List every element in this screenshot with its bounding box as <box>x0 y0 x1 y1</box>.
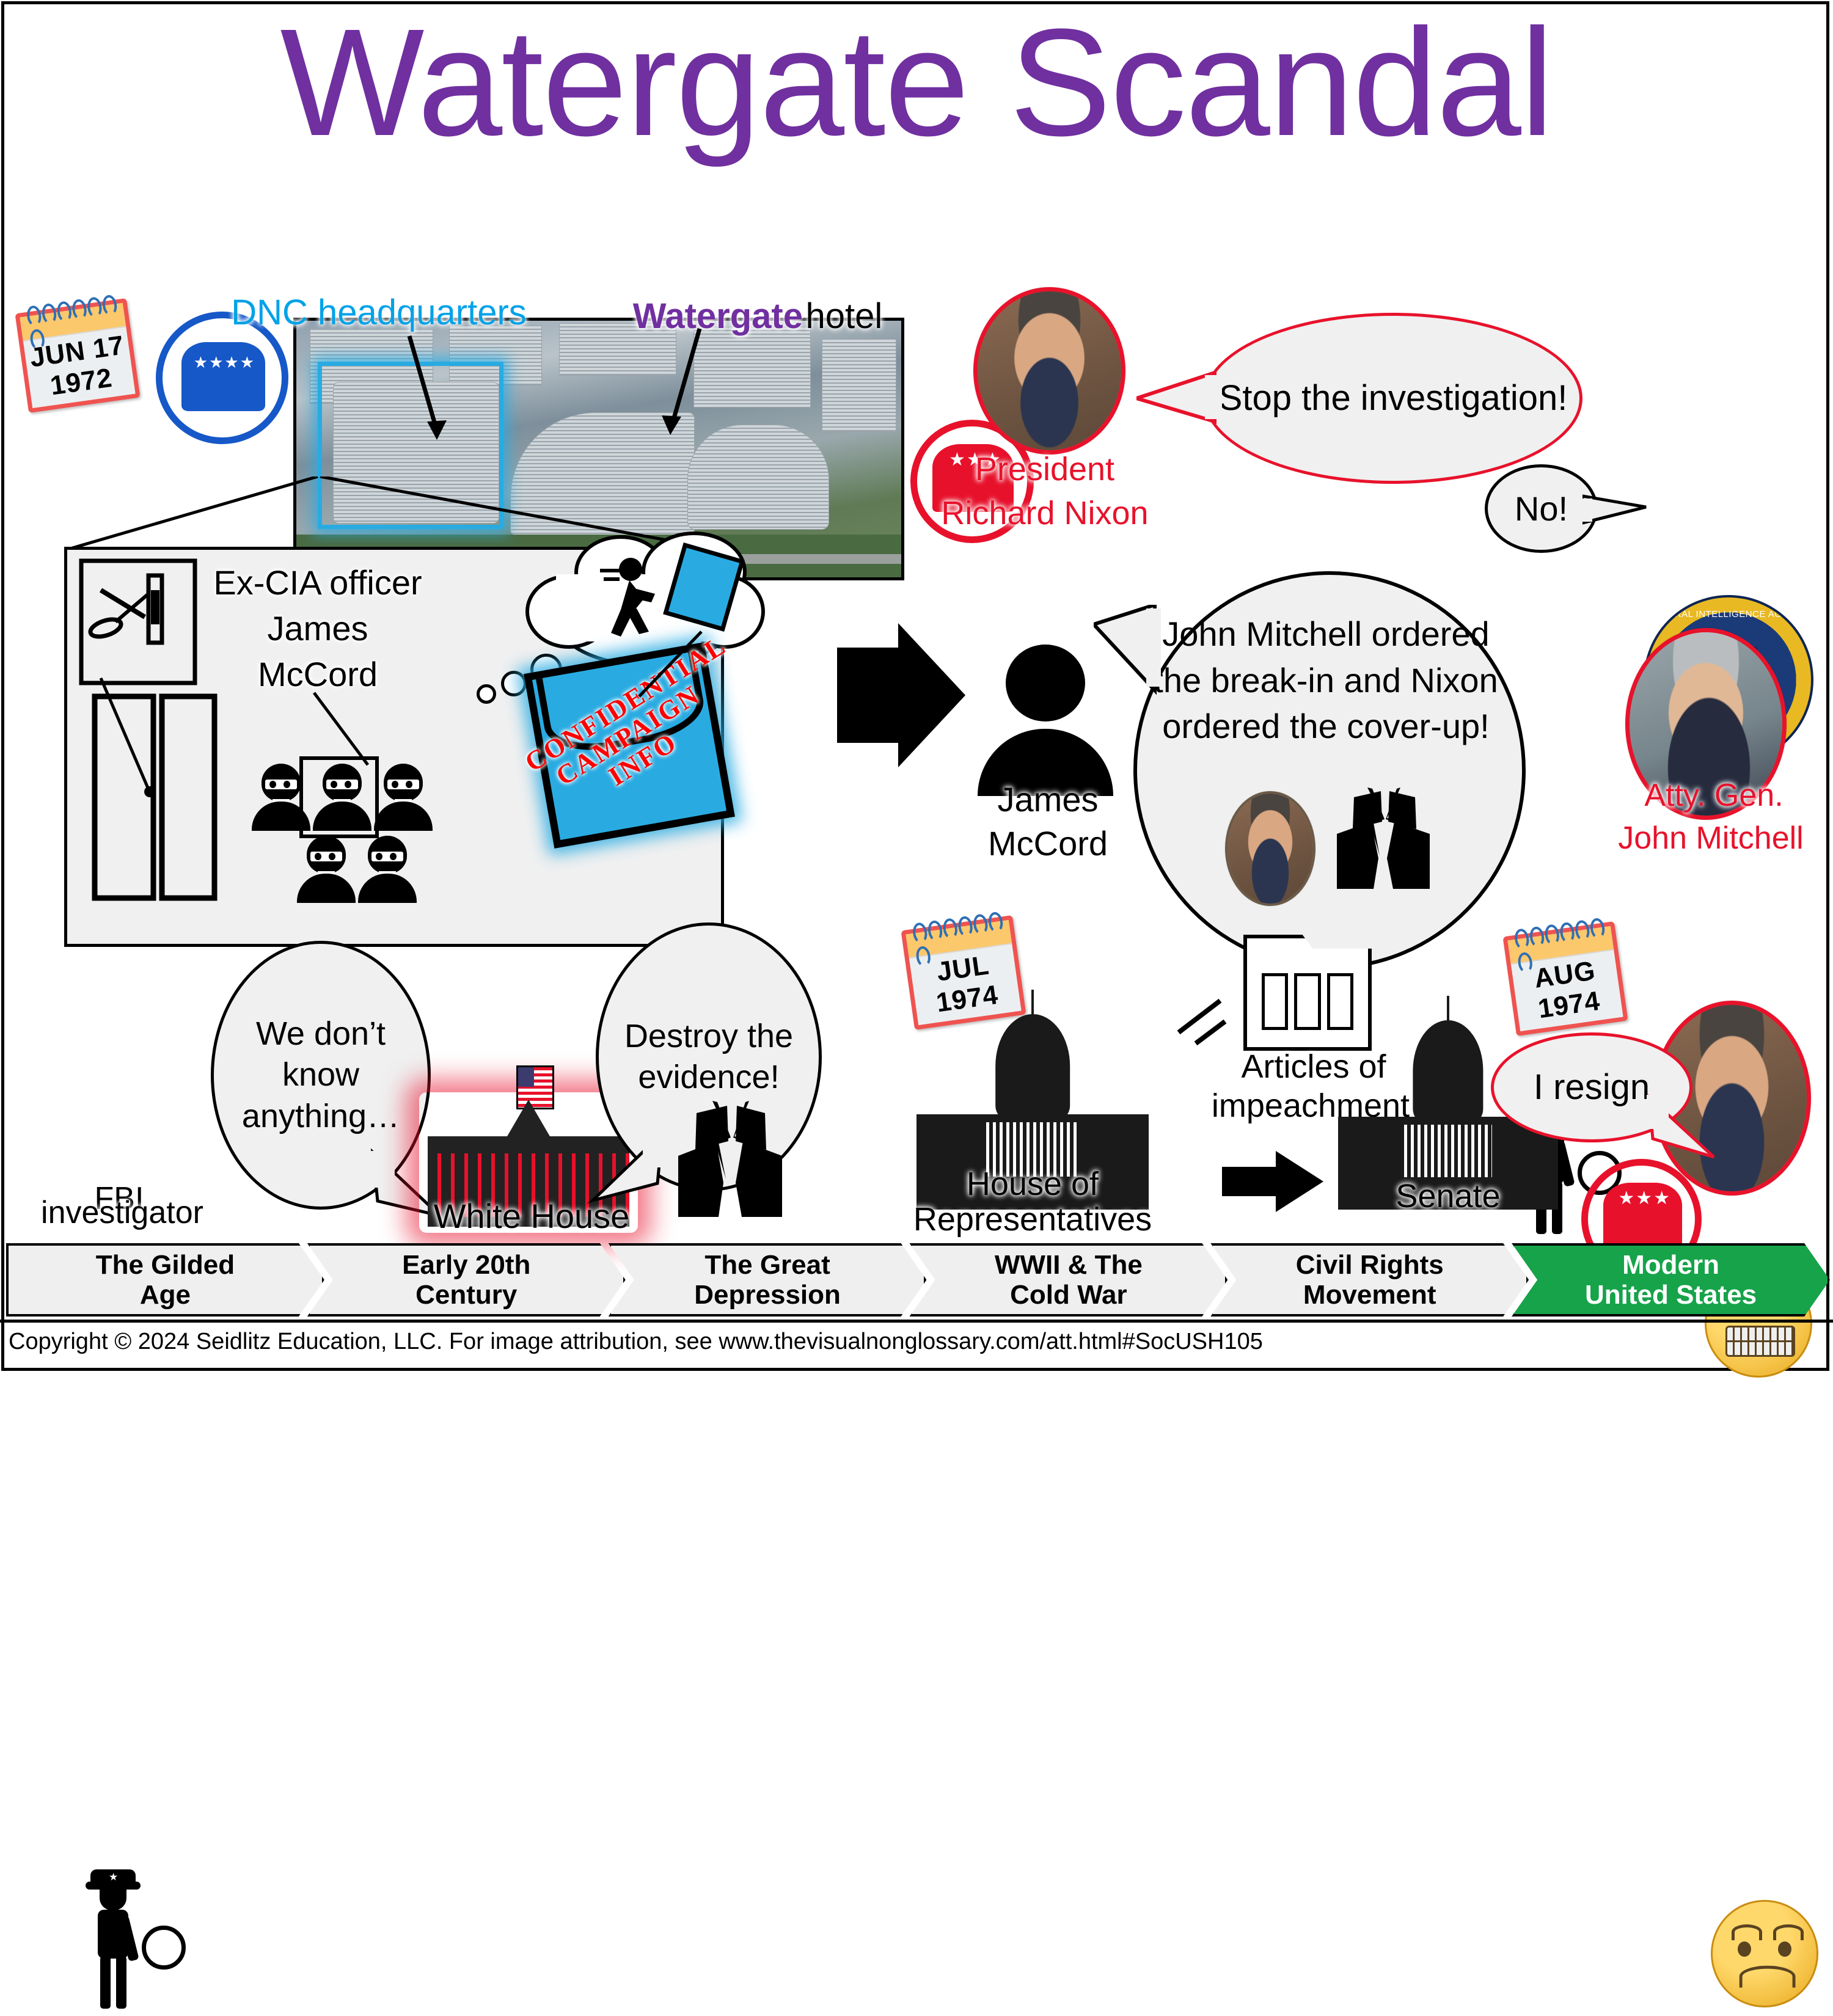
timeline-segment-great-depression[interactable]: The GreatDepression <box>609 1243 927 1317</box>
nixon-portrait-top <box>973 287 1125 455</box>
torn-document-icon <box>1326 785 1442 901</box>
nixon-label-line2: Richard Nixon <box>910 496 1179 531</box>
mccord-testify-label-l2: McCord <box>959 826 1136 862</box>
house-label-line1: House of <box>916 1167 1149 1202</box>
cia-bubble-tail <box>1582 483 1656 538</box>
mccord-label-line1: Ex-CIA officer <box>171 565 464 601</box>
disappointed-face-emoji <box>1711 1900 1818 2007</box>
mitchell-label-line2: John Mitchell <box>1589 822 1833 855</box>
senate-label: Senate <box>1338 1179 1558 1214</box>
timeline-segment-modern-united-states[interactable]: ModernUnited States <box>1512 1243 1830 1317</box>
fbi-investigator-stick-figure: ★ <box>86 1869 147 2016</box>
burglar-icon <box>297 836 356 903</box>
nixon-bubble-tail <box>1136 360 1222 434</box>
mccord-testify-label-l1: James <box>959 782 1136 818</box>
nixon-speech-bubble: Stop the investigation! <box>1204 313 1582 484</box>
cia-seal-top-text: CENTRAL INTELLIGENCE AGENCY <box>1646 609 1811 619</box>
calendar-aug-1974: AUG 1974 <box>1509 929 1622 1029</box>
footer-divider <box>0 1320 1833 1323</box>
fbi-label-line2: investigator <box>12 1196 232 1230</box>
destroyed-evidence-icon <box>666 1100 794 1231</box>
cia-reply-bubble: No! <box>1485 464 1598 553</box>
envelope-to-cloud-line <box>635 629 709 703</box>
calendar-jun-1972: JUN 17 1972 <box>21 305 134 406</box>
mccord-bubble-tail <box>1094 605 1161 696</box>
page-title: Watergate Scandal <box>0 6 1833 159</box>
white-house-bubble-tail <box>587 1127 672 1213</box>
motion-lines-icon <box>1176 990 1243 1051</box>
burglar-icon <box>358 836 417 903</box>
nixon-portrait-inline <box>1225 791 1315 906</box>
progress-arrow-icon <box>837 623 971 770</box>
mccord-label-line2: James <box>171 611 464 647</box>
burglar-icon <box>374 764 433 831</box>
resign-bubble-tail <box>1647 1094 1726 1173</box>
mccord-testimony-text: John Mitchell ordered the break-in and N… <box>1152 611 1500 750</box>
timeline-segment-civil-rights[interactable]: Civil RightsMovement <box>1210 1243 1529 1317</box>
mccord-highlight-box <box>299 756 379 838</box>
timeline-segment-wwii-cold-war[interactable]: WWII & TheCold War <box>909 1243 1227 1317</box>
house-label-line2: Representatives <box>880 1202 1185 1237</box>
us-flag-icon <box>516 1065 554 1109</box>
era-timeline: The GildedAge Early 20thCentury The Grea… <box>6 1243 1830 1317</box>
timeline-segment-gilded-age[interactable]: The GildedAge <box>6 1243 324 1317</box>
mccord-label-line3: McCord <box>171 657 464 693</box>
timeline-segment-early-20th-century[interactable]: Early 20thCentury <box>307 1243 626 1317</box>
copyright-footer: Copyright © 2024 Seidlitz Education, LLC… <box>0 1329 1833 1355</box>
nixon-label-line1: President <box>941 452 1149 487</box>
mitchell-label-line1: Atty. Gen. <box>1613 779 1815 813</box>
flow-arrow-icon <box>1222 1149 1326 1216</box>
